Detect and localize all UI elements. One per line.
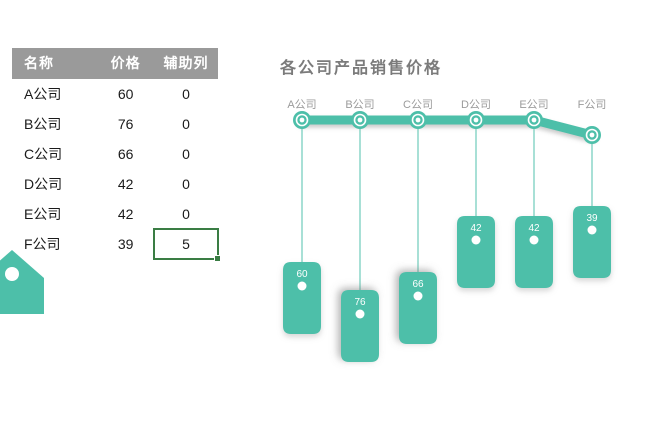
cell-price[interactable]: 42 xyxy=(97,169,154,199)
table-row[interactable]: E公司 42 0 xyxy=(12,199,218,229)
cell-price[interactable]: 39 xyxy=(97,229,154,259)
column-header-price[interactable]: 价格 xyxy=(97,48,154,79)
column-header-helper[interactable]: 辅助列 xyxy=(154,48,218,79)
cell-price[interactable]: 76 xyxy=(97,109,154,139)
cell-helper[interactable]: 0 xyxy=(154,169,218,199)
tag-b[interactable]: 76 xyxy=(341,290,379,362)
cell-helper[interactable]: 0 xyxy=(154,79,218,109)
tag-value-f: 39 xyxy=(586,213,598,224)
tag-d[interactable]: 42 xyxy=(457,216,495,288)
data-table[interactable]: 名称 价格 辅助列 A公司 60 0 B公司 76 0 C公司 66 0 D公司… xyxy=(12,48,218,259)
table-row[interactable]: C公司 66 0 xyxy=(12,139,218,169)
tag-value-a: 60 xyxy=(296,269,308,280)
tag-value-d: 42 xyxy=(470,223,482,234)
cell-helper[interactable]: 0 xyxy=(154,109,218,139)
selected-cell-helper[interactable]: 5 xyxy=(154,229,218,259)
sales-price-chart[interactable]: 各公司产品销售价格 A公司 B公司 C公司 D公司 E公司 F公司 xyxy=(250,40,650,380)
tag-a[interactable]: 60 xyxy=(283,262,321,334)
fill-handle[interactable] xyxy=(214,255,221,262)
selected-cell-value: 5 xyxy=(182,236,190,252)
line-marker-f xyxy=(583,126,601,144)
cell-name[interactable]: E公司 xyxy=(12,199,97,229)
cell-price[interactable]: 60 xyxy=(97,79,154,109)
table-row[interactable]: B公司 76 0 xyxy=(12,109,218,139)
cell-name[interactable]: C公司 xyxy=(12,139,97,169)
column-header-name[interactable]: 名称 xyxy=(12,48,97,79)
table-header-row: 名称 价格 辅助列 xyxy=(12,48,218,79)
cell-name[interactable]: A公司 xyxy=(12,79,97,109)
tag-f[interactable]: 39 xyxy=(573,206,611,278)
line-marker-e xyxy=(525,111,543,129)
cell-helper[interactable]: 0 xyxy=(154,199,218,229)
cell-price[interactable]: 42 xyxy=(97,199,154,229)
tag-c[interactable]: 66 xyxy=(399,272,437,344)
cell-name[interactable]: B公司 xyxy=(12,109,97,139)
cell-helper[interactable]: 0 xyxy=(154,139,218,169)
line-marker-b xyxy=(351,111,369,129)
cell-price[interactable]: 66 xyxy=(97,139,154,169)
table-row[interactable]: A公司 60 0 xyxy=(12,79,218,109)
tag-value-c: 66 xyxy=(412,279,424,290)
tag-e[interactable]: 42 xyxy=(515,216,553,288)
tag-value-b: 76 xyxy=(354,297,366,308)
line-marker-a xyxy=(293,111,311,129)
price-tag-icon xyxy=(0,248,46,314)
line-marker-c xyxy=(409,111,427,129)
connector-line xyxy=(302,120,592,135)
cell-name[interactable]: D公司 xyxy=(12,169,97,199)
line-marker-d xyxy=(467,111,485,129)
table-row[interactable]: D公司 42 0 xyxy=(12,169,218,199)
chart-canvas: 60 76 66 42 42 39 xyxy=(250,40,650,380)
tag-value-e: 42 xyxy=(528,223,540,234)
